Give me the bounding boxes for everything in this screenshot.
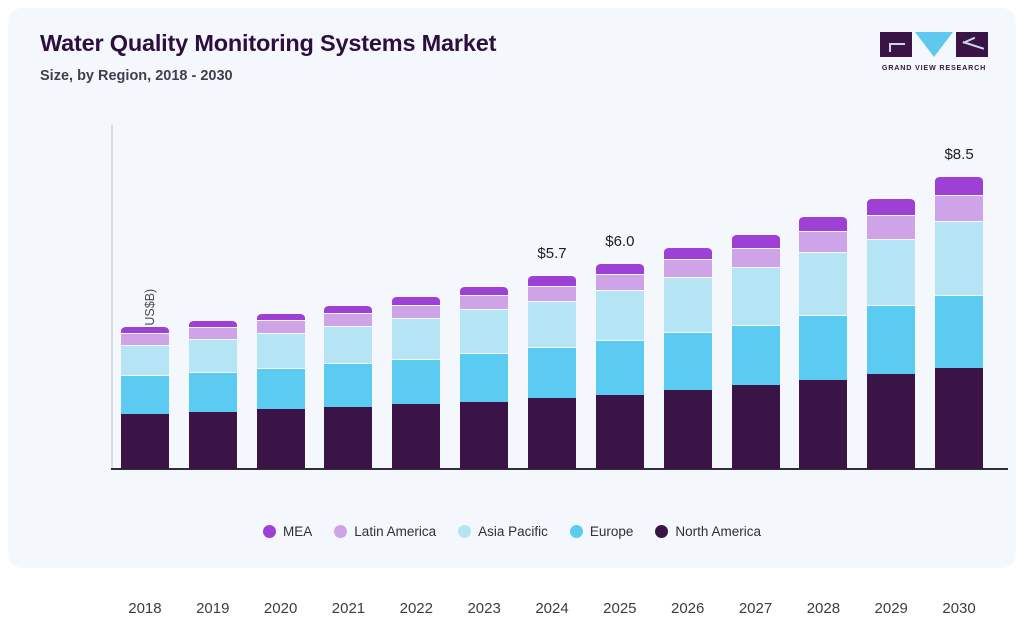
bar-column[interactable] (799, 216, 847, 469)
bar-segment[interactable] (732, 325, 780, 386)
bar-column[interactable] (121, 326, 169, 469)
legend-item[interactable]: Asia Pacific (458, 524, 548, 539)
bar-value-label: $6.0 (605, 233, 634, 250)
logo-text: GRAND VIEW RESEARCH (880, 63, 988, 72)
bar-segment[interactable] (799, 216, 847, 231)
bar-segment[interactable] (460, 309, 508, 352)
bar-segment[interactable] (460, 286, 508, 295)
legend-color-swatch (655, 525, 668, 538)
bar-segment[interactable] (392, 318, 440, 358)
x-axis-tick: 2030 (924, 600, 994, 617)
bar-segment[interactable] (935, 221, 983, 294)
bar-segment[interactable] (257, 313, 305, 321)
x-axis-tick: 2018 (110, 600, 180, 617)
bar-segment[interactable] (257, 409, 305, 469)
bar-segment[interactable] (596, 395, 644, 469)
bar-segment[interactable] (324, 305, 372, 313)
bar-segment[interactable] (460, 402, 508, 469)
bar-segment[interactable] (799, 380, 847, 469)
x-axis-tick: 2023 (449, 600, 519, 617)
bar-column[interactable] (324, 305, 372, 469)
bar-segment[interactable] (460, 353, 508, 402)
bar-segment[interactable] (189, 372, 237, 412)
chart-header: Water Quality Monitoring Systems Market … (40, 30, 496, 84)
logo-triangle-icon (915, 32, 953, 57)
legend-item[interactable]: Europe (570, 524, 634, 539)
legend-label: Latin America (354, 524, 436, 539)
bar-segment[interactable] (596, 274, 644, 291)
bar-column[interactable] (732, 234, 780, 469)
legend-item[interactable]: MEA (263, 524, 312, 539)
bar-segment[interactable] (596, 290, 644, 340)
plot-area: Market Size (US$B) 0246810 $5.7$6.0$8.5 … (111, 125, 993, 469)
bar-segment[interactable] (528, 286, 576, 301)
x-axis-tick: 2022 (381, 600, 451, 617)
bar-segment[interactable] (732, 248, 780, 267)
bar-segment[interactable] (324, 363, 372, 407)
bar-segment[interactable] (935, 295, 983, 368)
bar-segment[interactable] (664, 247, 712, 259)
logo-square-right-icon (956, 32, 988, 57)
bar-segment[interactable] (799, 315, 847, 380)
bar-segment[interactable] (392, 404, 440, 469)
bar-segment[interactable] (732, 234, 780, 247)
bar-segment[interactable] (189, 412, 237, 469)
bar-segment[interactable] (257, 368, 305, 409)
bar-segment[interactable] (324, 313, 372, 326)
legend-label: Asia Pacific (478, 524, 548, 539)
bar-column[interactable] (460, 286, 508, 469)
bar-segment[interactable] (664, 390, 712, 469)
bar-segment[interactable] (528, 398, 576, 469)
bar-segment[interactable] (121, 375, 169, 414)
legend-color-swatch (334, 525, 347, 538)
bar-column[interactable] (189, 320, 237, 469)
bar-segment[interactable] (528, 301, 576, 347)
bar-segment[interactable] (528, 347, 576, 398)
bar-segment[interactable] (935, 176, 983, 195)
legend-color-swatch (570, 525, 583, 538)
bar-segment[interactable] (664, 259, 712, 277)
x-axis-tick: 2021 (313, 600, 383, 617)
chart-legend: MEALatin AmericaAsia PacificEuropeNorth … (8, 524, 1016, 539)
bar-segment[interactable] (799, 252, 847, 315)
legend-color-swatch (263, 525, 276, 538)
bar-column[interactable] (257, 313, 305, 469)
legend-item[interactable]: North America (655, 524, 761, 539)
legend-label: North America (675, 524, 761, 539)
bar-column[interactable] (392, 296, 440, 469)
legend-item[interactable]: Latin America (334, 524, 436, 539)
bar-segment[interactable] (596, 340, 644, 395)
brand-logo: GRAND VIEW RESEARCH (880, 32, 988, 72)
bar-value-label: $8.5 (944, 146, 973, 163)
bar-column[interactable] (935, 176, 983, 469)
bar-segment[interactable] (664, 277, 712, 332)
bar-segment[interactable] (189, 327, 237, 339)
bar-segment[interactable] (460, 295, 508, 309)
x-axis-tick: 2028 (788, 600, 858, 617)
legend-label: MEA (283, 524, 312, 539)
logo-mark (880, 32, 988, 58)
bar-segment[interactable] (799, 231, 847, 252)
x-axis-tick: 2019 (178, 600, 248, 617)
x-axis-tick: 2020 (246, 600, 316, 617)
bar-segment[interactable] (935, 195, 983, 222)
x-axis-tick: 2027 (721, 600, 791, 617)
bar-segment[interactable] (121, 345, 169, 376)
bar-column[interactable] (867, 198, 915, 469)
bar-value-label: $5.7 (537, 245, 566, 262)
bar-segment[interactable] (324, 407, 372, 469)
bar-segment[interactable] (867, 305, 915, 375)
bar-segment[interactable] (867, 374, 915, 469)
bar-segment[interactable] (664, 332, 712, 390)
bar-segment[interactable] (867, 239, 915, 305)
bar-segment[interactable] (257, 333, 305, 368)
bar-segment[interactable] (121, 326, 169, 333)
bar-segment[interactable] (528, 275, 576, 285)
bar-segment[interactable] (392, 359, 440, 405)
chart-subtitle: Size, by Region, 2018 - 2030 (40, 68, 496, 84)
bar-segment[interactable] (596, 263, 644, 274)
bar-segment[interactable] (867, 215, 915, 238)
bar-segment[interactable] (324, 326, 372, 363)
bar-segment[interactable] (935, 368, 983, 469)
page-title: Water Quality Monitoring Systems Market (40, 30, 496, 57)
bar-segment[interactable] (189, 320, 237, 327)
bar-segment[interactable] (732, 385, 780, 469)
bar-segment[interactable] (257, 320, 305, 332)
chart-card: Water Quality Monitoring Systems Market … (8, 8, 1016, 568)
logo-square-left-icon (880, 32, 912, 57)
x-axis-tick: 2024 (517, 600, 587, 617)
bar-segment[interactable] (732, 267, 780, 325)
bar-column[interactable] (528, 275, 576, 469)
bar-segment[interactable] (392, 305, 440, 319)
legend-color-swatch (458, 525, 471, 538)
bar-column[interactable] (664, 247, 712, 469)
bar-segment[interactable] (867, 198, 915, 215)
x-axis-tick: 2025 (585, 600, 655, 617)
bar-segment[interactable] (392, 296, 440, 305)
x-axis-tick: 2026 (653, 600, 723, 617)
bar-column[interactable] (596, 263, 644, 469)
legend-label: Europe (590, 524, 634, 539)
x-axis-tick: 2029 (856, 600, 926, 617)
bar-segment[interactable] (121, 414, 169, 469)
bar-segment[interactable] (121, 333, 169, 344)
bar-segment[interactable] (189, 339, 237, 372)
